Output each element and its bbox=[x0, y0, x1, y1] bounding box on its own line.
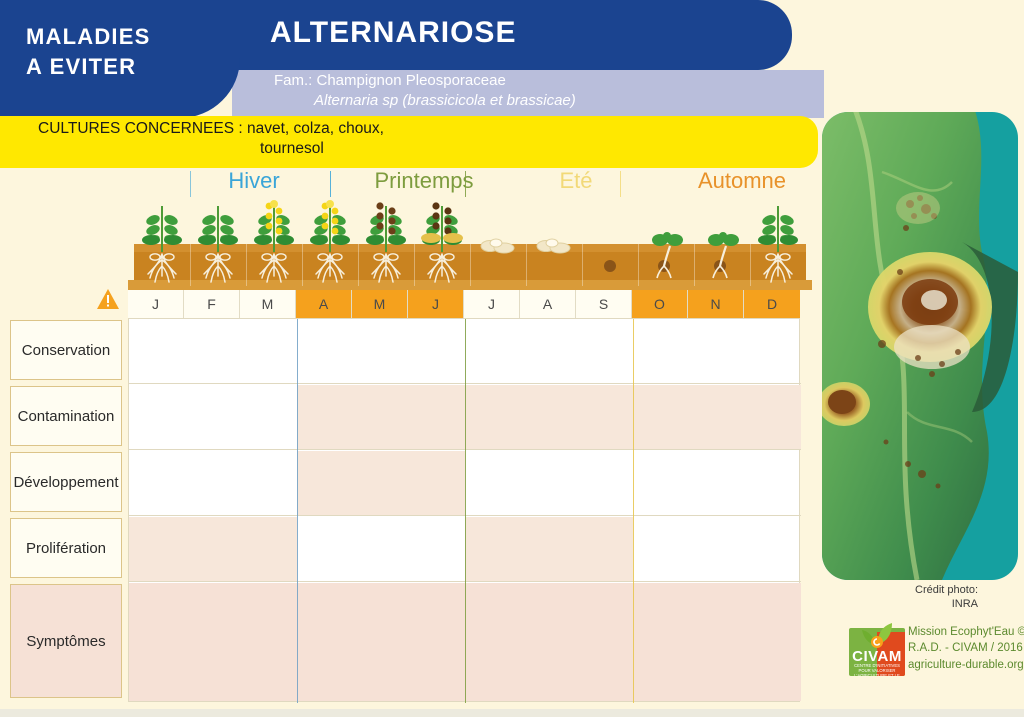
cell-symptomes_2 bbox=[633, 583, 801, 701]
season-grid-divider bbox=[465, 319, 466, 703]
leaf-icon bbox=[861, 618, 895, 648]
lifecycle-grid bbox=[128, 318, 800, 702]
species-text: Alternaria sp (brassicicola et brassicae… bbox=[314, 92, 576, 109]
taxonomy-band: Fam.: Champignon Pleosporaceae Alternari… bbox=[232, 70, 824, 118]
soil-column-separator bbox=[526, 244, 527, 286]
season-divider bbox=[620, 171, 621, 197]
season-label-hiver: Hiver bbox=[174, 168, 334, 194]
month-cell-9[interactable]: O bbox=[632, 290, 688, 318]
season-divider bbox=[190, 171, 191, 197]
footer-line-1: Mission Ecophyt'Eau © bbox=[908, 624, 1024, 640]
plant-stage-seed bbox=[537, 239, 570, 253]
season-label-et: Eté bbox=[496, 168, 656, 194]
disease-photo bbox=[822, 112, 1018, 580]
plant-stage-rosette bbox=[758, 206, 798, 282]
soil-column-separator bbox=[414, 244, 415, 286]
soil-column-separator bbox=[246, 244, 247, 286]
plant-stage-flower bbox=[310, 200, 350, 282]
month-header-row: JFMAMJJASOND bbox=[128, 290, 800, 318]
row-label-developpement[interactable]: Développement bbox=[10, 452, 122, 512]
photo-credit-label: Crédit photo: bbox=[822, 584, 978, 598]
cell-block bbox=[129, 385, 297, 449]
plant-stage-germ bbox=[652, 232, 683, 278]
soil-column-separator bbox=[750, 244, 751, 286]
civam-logo-subtext: CENTRE D'INITIATIVES POUR VALORISER L'AG… bbox=[849, 664, 905, 676]
month-cell-11[interactable]: D bbox=[744, 290, 800, 318]
season-divider bbox=[465, 171, 466, 197]
family-text: Fam.: Champignon Pleosporaceae bbox=[274, 72, 506, 89]
warning-icon bbox=[96, 288, 120, 310]
cell-symptomes_1 bbox=[297, 583, 465, 701]
page-title: ALTERNARIOSE bbox=[270, 16, 516, 50]
soil-column-separator bbox=[694, 244, 695, 286]
footer-line-2: R.A.D. - CIVAM / 2016 bbox=[908, 640, 1024, 656]
soil-column-separator bbox=[302, 244, 303, 286]
photo-credit: Crédit photo: INRA bbox=[822, 584, 1018, 612]
season-label-printemps: Printemps bbox=[344, 168, 504, 194]
plant-stage-seed bbox=[481, 239, 514, 253]
footer-credits: Mission Ecophyt'Eau © R.A.D. - CIVAM / 2… bbox=[908, 624, 1024, 673]
category-badge-label: MALADIES A EVITER bbox=[26, 22, 236, 83]
cell-contamination_3 bbox=[633, 385, 801, 449]
soil-column-separator bbox=[358, 244, 359, 286]
category-badge: MALADIES A EVITER bbox=[0, 0, 240, 118]
season-divider bbox=[330, 171, 331, 197]
row-label-conservation[interactable]: Conservation bbox=[10, 320, 122, 380]
season-grid-divider bbox=[297, 319, 298, 703]
plant-stage-podripe bbox=[421, 202, 463, 282]
cell-contamination_1 bbox=[297, 385, 465, 449]
cultures-banner: CULTURES CONCERNEES : navet, colza, chou… bbox=[0, 116, 818, 168]
month-cell-10[interactable]: N bbox=[688, 290, 744, 318]
disease-title-block: ALTERNARIOSE bbox=[232, 0, 792, 70]
cultures-line-2: tournesol bbox=[260, 140, 324, 158]
plant-stage-bare bbox=[604, 260, 616, 272]
month-cell-6[interactable]: J bbox=[464, 290, 520, 318]
soil-column-separator bbox=[190, 244, 191, 286]
plant-stage-rosette bbox=[142, 206, 182, 282]
category-badge-line2: A EVITER bbox=[26, 52, 236, 82]
month-cell-1[interactable]: F bbox=[184, 290, 240, 318]
lifecycle-table: JFMAMJJASOND ConservationContaminationDé… bbox=[10, 290, 792, 702]
cultures-line-1: CULTURES CONCERNEES : navet, colza, chou… bbox=[38, 120, 384, 138]
soil-column-separator bbox=[638, 244, 639, 286]
row-label-symptomes[interactable]: Symptômes bbox=[10, 584, 122, 698]
plant-stage-rosette bbox=[198, 206, 238, 282]
page-header: ALTERNARIOSE Fam.: Champignon Pleosporac… bbox=[0, 0, 1024, 118]
crop-cycle-illustration bbox=[128, 196, 818, 292]
month-cell-5[interactable]: J bbox=[408, 290, 464, 318]
row-label-contamination[interactable]: Contamination bbox=[10, 386, 122, 446]
category-badge-line1: MALADIES bbox=[26, 22, 236, 52]
month-cell-7[interactable]: A bbox=[520, 290, 576, 318]
cell-proliferation_1 bbox=[129, 517, 297, 581]
month-cell-2[interactable]: M bbox=[240, 290, 296, 318]
footer-line-3[interactable]: agriculture-durable.org bbox=[908, 657, 1024, 673]
soil-column-separator bbox=[582, 244, 583, 286]
cell-proliferation_2 bbox=[465, 517, 633, 581]
photo-credit-value: INRA bbox=[822, 598, 978, 612]
bottom-strip bbox=[0, 709, 1024, 717]
month-cell-3[interactable]: A bbox=[296, 290, 352, 318]
plant-stage-icons bbox=[128, 196, 818, 292]
soil-column-separator bbox=[470, 244, 471, 286]
month-cell-0[interactable]: J bbox=[128, 290, 184, 318]
season-grid-divider bbox=[633, 319, 634, 703]
plant-stage-bud bbox=[254, 200, 294, 282]
civam-logo: CIVAM CENTRE D'INITIATIVES POUR VALORISE… bbox=[849, 624, 905, 676]
plant-stage-germ bbox=[708, 232, 739, 278]
cell-contamination_2 bbox=[465, 385, 633, 449]
row-label-proliferation[interactable]: Prolifération bbox=[10, 518, 122, 578]
plant-stage-pod bbox=[366, 202, 406, 282]
cell-developpement_1 bbox=[297, 451, 465, 515]
month-cell-8[interactable]: S bbox=[576, 290, 632, 318]
season-label-automne: Automne bbox=[662, 168, 822, 194]
month-cell-4[interactable]: M bbox=[352, 290, 408, 318]
